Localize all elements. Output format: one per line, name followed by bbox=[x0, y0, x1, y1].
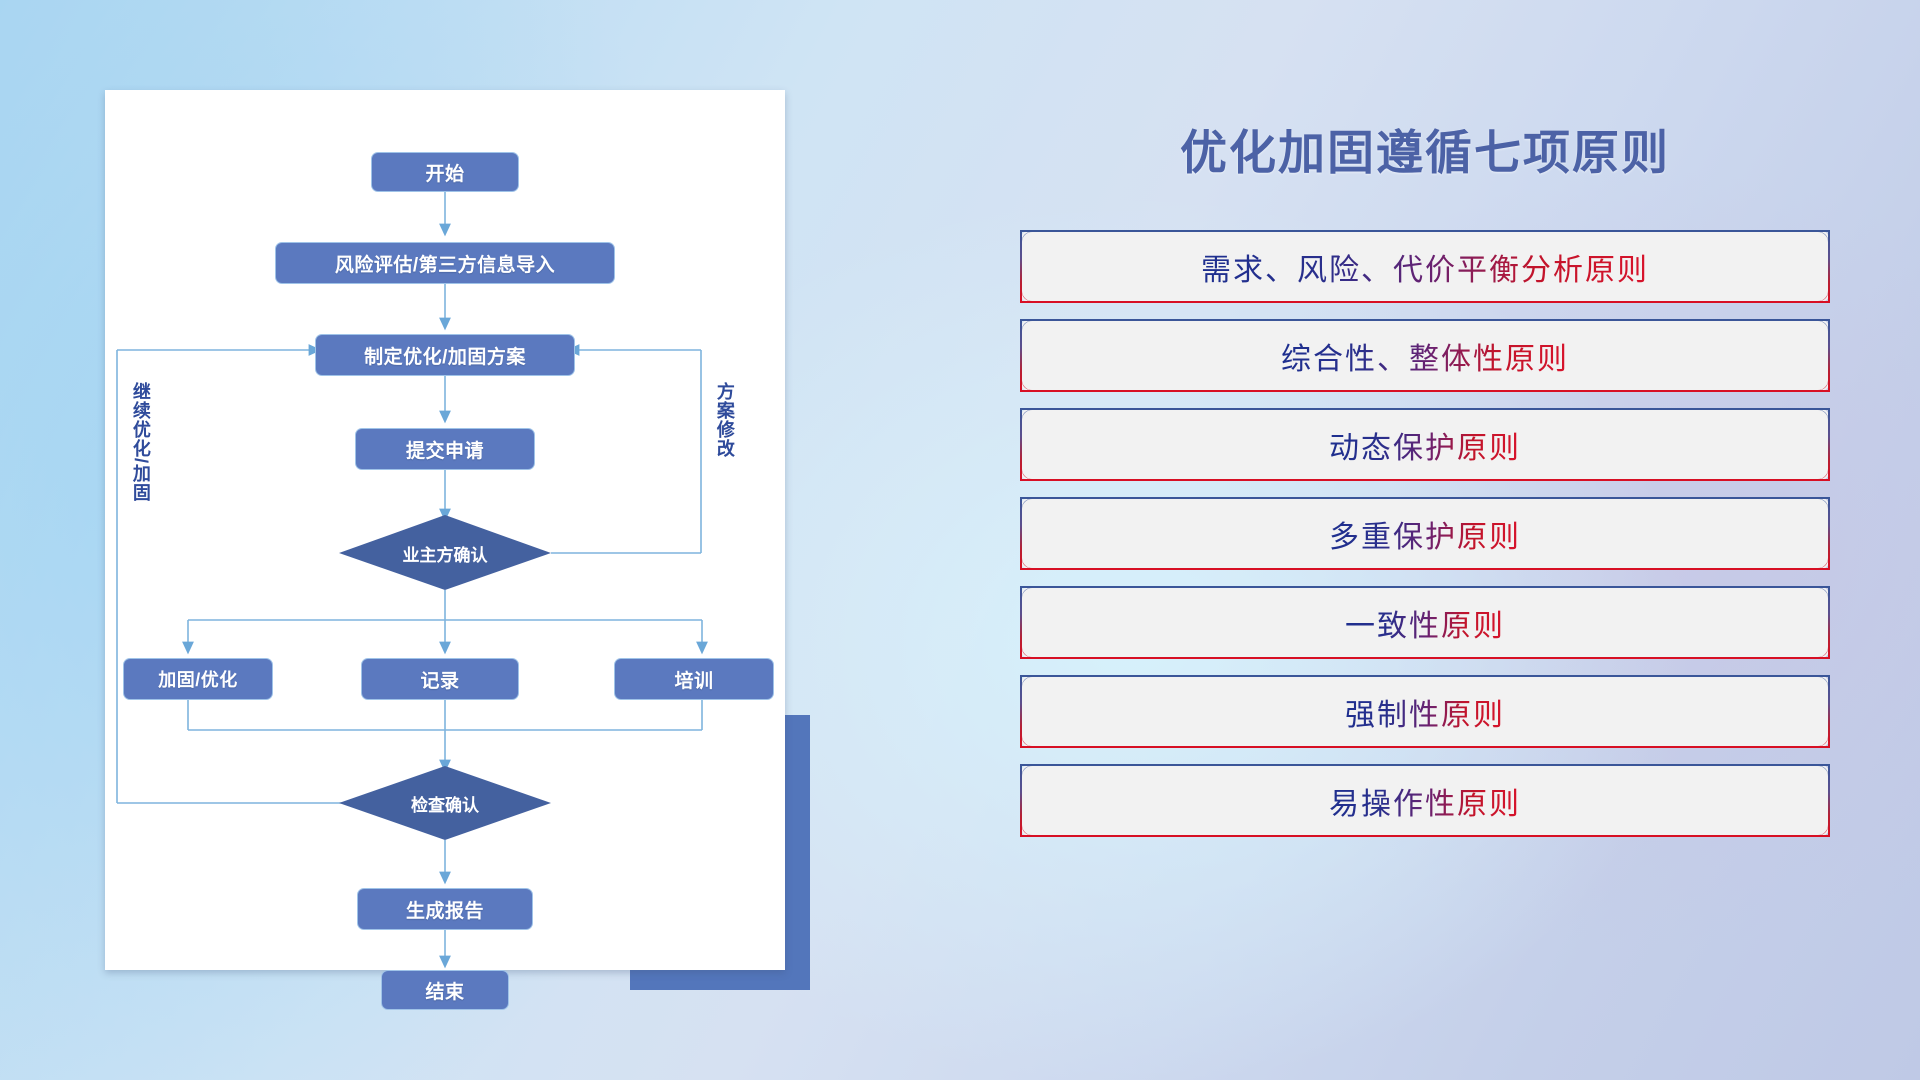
edge-label-continue-optimize: 继续优化/加固 bbox=[131, 382, 150, 502]
node-record[interactable]: 记录 bbox=[361, 658, 519, 700]
owner-confirm-diamond bbox=[339, 515, 551, 590]
principle-item[interactable]: 综合性、整体性原则 bbox=[1020, 319, 1830, 392]
node-end[interactable]: 结束 bbox=[381, 970, 509, 1010]
edge-label-plan-revision: 方案修改 bbox=[715, 382, 734, 458]
node-training[interactable]: 培训 bbox=[614, 658, 774, 700]
principle-item[interactable]: 动态保护原则 bbox=[1020, 408, 1830, 481]
flowchart-panel: 开始 风险评估/第三方信息导入 制定优化/加固方案 提交申请 业主方确认 加固/… bbox=[105, 90, 790, 970]
flowchart-connectors bbox=[105, 90, 785, 970]
flowchart-card: 开始 风险评估/第三方信息导入 制定优化/加固方案 提交申请 业主方确认 加固/… bbox=[105, 90, 785, 970]
principle-item[interactable]: 需求、风险、代价平衡分析原则 bbox=[1020, 230, 1830, 303]
principles-panel: 优化加固遵循七项原则 需求、风险、代价平衡分析原则 综合性、整体性原则 动态保护… bbox=[1020, 100, 1830, 1000]
principle-item[interactable]: 强制性原则 bbox=[1020, 675, 1830, 748]
node-training-label: 培训 bbox=[674, 666, 713, 693]
principle-item[interactable]: 一致性原则 bbox=[1020, 586, 1830, 659]
flowchart-stage: 开始 风险评估/第三方信息导入 制定优化/加固方案 提交申请 业主方确认 加固/… bbox=[105, 90, 785, 970]
node-submit-application[interactable]: 提交申请 bbox=[355, 428, 535, 470]
principle-item[interactable]: 多重保护原则 bbox=[1020, 497, 1830, 570]
principle-item-label: 易操作性原则 bbox=[1329, 779, 1521, 823]
check-confirm-diamond bbox=[339, 766, 551, 840]
node-reinforce-optimize-label: 加固/优化 bbox=[158, 666, 238, 692]
principle-item-label: 多重保护原则 bbox=[1329, 512, 1521, 556]
principle-item-label: 需求、风险、代价平衡分析原则 bbox=[1201, 245, 1649, 289]
principle-item-label: 一致性原则 bbox=[1345, 601, 1505, 645]
node-reinforce-optimize[interactable]: 加固/优化 bbox=[123, 658, 273, 700]
node-make-plan[interactable]: 制定优化/加固方案 bbox=[315, 334, 575, 376]
principle-item-label: 综合性、整体性原则 bbox=[1281, 334, 1569, 378]
node-risk-assessment[interactable]: 风险评估/第三方信息导入 bbox=[275, 242, 615, 284]
node-risk-assessment-label: 风险评估/第三方信息导入 bbox=[335, 250, 555, 277]
principle-item-label: 强制性原则 bbox=[1345, 690, 1505, 734]
node-generate-report[interactable]: 生成报告 bbox=[357, 888, 533, 930]
node-submit-application-label: 提交申请 bbox=[406, 436, 484, 463]
node-start[interactable]: 开始 bbox=[371, 152, 519, 192]
principle-item-label: 动态保护原则 bbox=[1329, 423, 1521, 467]
principle-item[interactable]: 易操作性原则 bbox=[1020, 764, 1830, 837]
node-record-label: 记录 bbox=[420, 666, 459, 693]
node-generate-report-label: 生成报告 bbox=[406, 896, 484, 923]
principles-title: 优化加固遵循七项原则 bbox=[1020, 114, 1830, 183]
node-end-label: 结束 bbox=[425, 977, 464, 1004]
principles-list: 需求、风险、代价平衡分析原则 综合性、整体性原则 动态保护原则 多重保护原则 一… bbox=[1020, 230, 1830, 853]
node-start-label: 开始 bbox=[425, 159, 464, 186]
node-make-plan-label: 制定优化/加固方案 bbox=[364, 342, 526, 369]
